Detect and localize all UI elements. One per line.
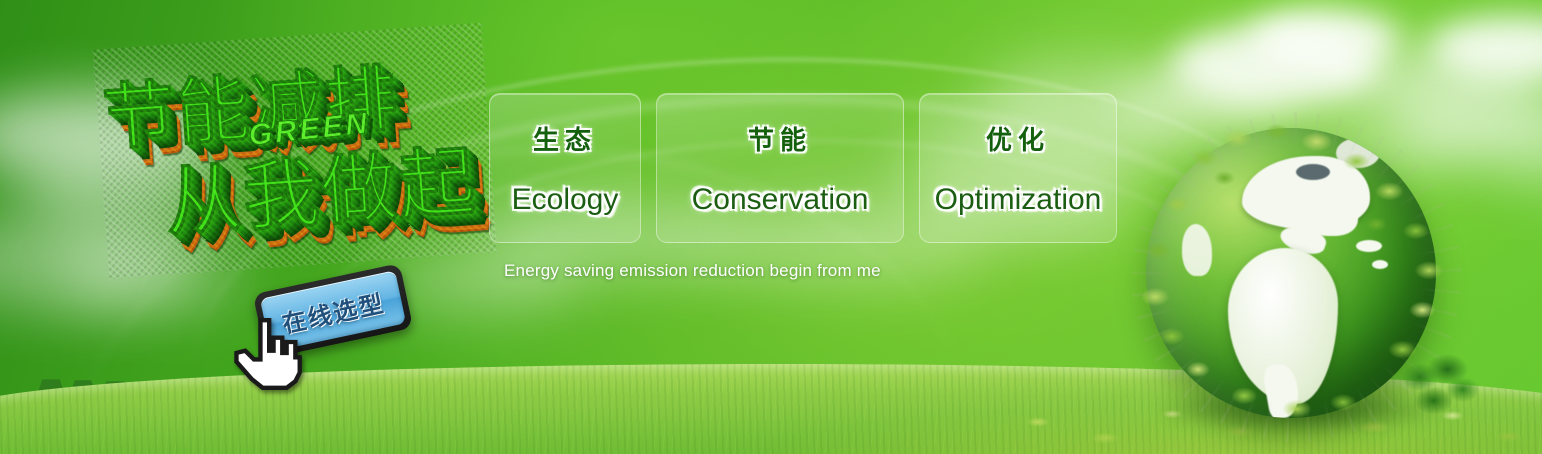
pointing-hand-cursor-icon (232, 318, 302, 390)
headline-line-2: 从我做起 (161, 120, 480, 251)
feature-card-cn-label: 生态 (533, 120, 597, 157)
island-shape (1182, 224, 1212, 276)
eco-promo-banner: 节能减排 GREEN 从我做起 在线选型 生态 Ecology 节能 Conse… (0, 0, 1542, 454)
feature-card-cn-label: 节能 (748, 120, 812, 157)
lake-shape (1296, 164, 1330, 180)
feature-card-en-label: Optimization (935, 183, 1102, 217)
feature-card-conservation[interactable]: 节能 Conservation (656, 93, 904, 243)
feature-card-en-label: Conservation (692, 183, 869, 217)
feature-card-en-label: Ecology (512, 183, 619, 217)
globe-sphere (1146, 128, 1436, 418)
feature-card-list: 生态 Ecology 节能 Conservation 优化 Optimizati… (489, 93, 1117, 243)
feature-card-cn-label: 优化 (986, 120, 1050, 157)
island-shape (1356, 240, 1382, 252)
bush-icon (1394, 346, 1480, 424)
headline-3d-logo: 节能减排 GREEN 从我做起 (92, 23, 497, 280)
leafy-green-globe-icon (1146, 128, 1454, 428)
tagline-text: Energy saving emission reduction begin f… (504, 261, 881, 281)
feature-card-optimization[interactable]: 优化 Optimization (919, 93, 1117, 243)
feature-card-ecology[interactable]: 生态 Ecology (489, 93, 641, 243)
island-shape (1372, 260, 1388, 269)
